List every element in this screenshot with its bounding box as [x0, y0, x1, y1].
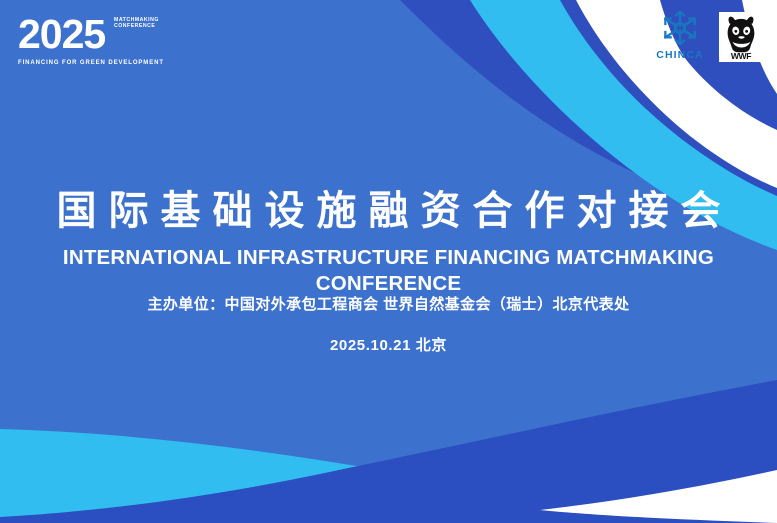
wwf-panda-icon: WWF	[720, 13, 762, 61]
chinca-emblem-icon	[658, 8, 702, 48]
conference-banner: 2025 MATCHMAKING CONFERENCE FINANCING FO…	[0, 0, 777, 523]
partner-logo-group: CHINCA	[651, 8, 763, 62]
svg-text:WWF: WWF	[731, 51, 751, 61]
logo-year: 2025	[18, 14, 105, 55]
logo-tagline: MATCHMAKING CONFERENCE	[114, 17, 186, 30]
background-decoration	[0, 0, 777, 523]
wwf-logo: WWF	[719, 12, 763, 62]
logo-subtitle: FINANCING FOR GREEN DEVELOPMENT	[18, 59, 164, 67]
event-logo-2025: 2025 MATCHMAKING CONFERENCE FINANCING FO…	[18, 14, 188, 70]
chinca-wordmark: CHINCA	[651, 49, 709, 61]
chinca-logo: CHINCA	[651, 8, 709, 61]
